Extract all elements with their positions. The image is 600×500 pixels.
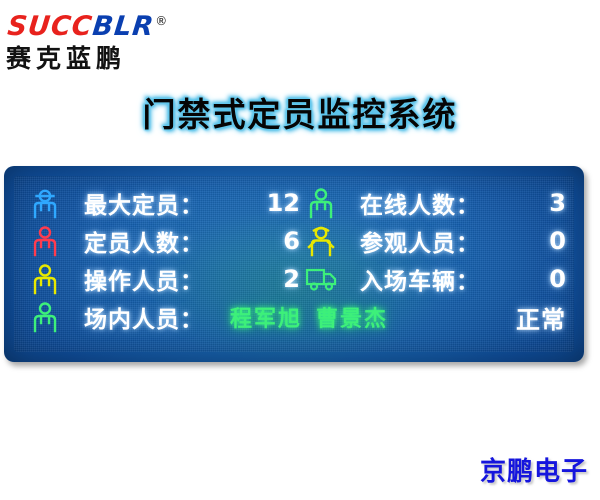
readout-label: 参观人员： [360, 224, 480, 258]
readout-row-online-count: 在线人数： 3 [304, 184, 574, 222]
person-icon [304, 186, 338, 220]
footer-watermark: 京鹏电子 [480, 451, 588, 488]
status-badge: 正常 [516, 300, 574, 335]
worker-helmet-person-icon [28, 186, 62, 220]
registered-trademark-icon: ® [155, 6, 168, 36]
led-display-panel: 最大定员： 12 定员人数： 6 [4, 166, 584, 362]
readout-row-onsite-personnel: 场内人员： 程军旭曹景杰 正常 [28, 298, 574, 336]
person-icon [28, 224, 62, 258]
readout-label: 在线人数： [360, 186, 480, 220]
readout-label: 定员人数： [84, 224, 204, 258]
logo-latin-second: BLR [91, 11, 156, 42]
readout-row-max-capacity: 最大定员： 12 [28, 184, 306, 222]
readout-value: 12 [267, 189, 306, 217]
person-icon [28, 300, 62, 334]
readout-row-operators: 操作人员： 2 [28, 260, 306, 298]
readout-value: 0 [549, 227, 574, 255]
readout-value: 2 [283, 265, 306, 293]
onsite-name: 程军旭 [230, 307, 302, 332]
logo-chinese-wordmark: 赛克蓝鹏 [6, 44, 216, 74]
readout-label: 入场车辆： [360, 262, 480, 296]
person-icon [28, 262, 62, 296]
company-logo: SUCCBLR® 赛克蓝鹏 [6, 6, 216, 72]
readout-value: 0 [549, 265, 574, 293]
led-readout-grid: 最大定员： 12 定员人数： 6 [4, 166, 584, 362]
readout-value: 3 [549, 189, 574, 217]
readout-label: 操作人员： [84, 262, 204, 296]
onsite-names-list: 程军旭曹景杰 [230, 301, 388, 333]
readout-row-vehicles-entered: 入场车辆： 0 [304, 260, 574, 298]
logo-latin-wordmark: SUCCBLR® [6, 6, 220, 42]
readout-row-assigned-count: 定员人数： 6 [28, 222, 306, 260]
readout-value: 6 [283, 227, 306, 255]
readout-row-visitors: 参观人员： 0 [304, 222, 574, 260]
readout-label: 场内人员： [84, 300, 204, 334]
visitor-hat-person-icon [304, 224, 338, 258]
logo-latin-first: SUCC [6, 11, 94, 42]
onsite-name: 曹景杰 [316, 307, 388, 332]
truck-icon [304, 262, 338, 296]
page-title: 门禁式定员监控系统 [0, 88, 600, 136]
readout-label: 最大定员： [84, 186, 204, 220]
